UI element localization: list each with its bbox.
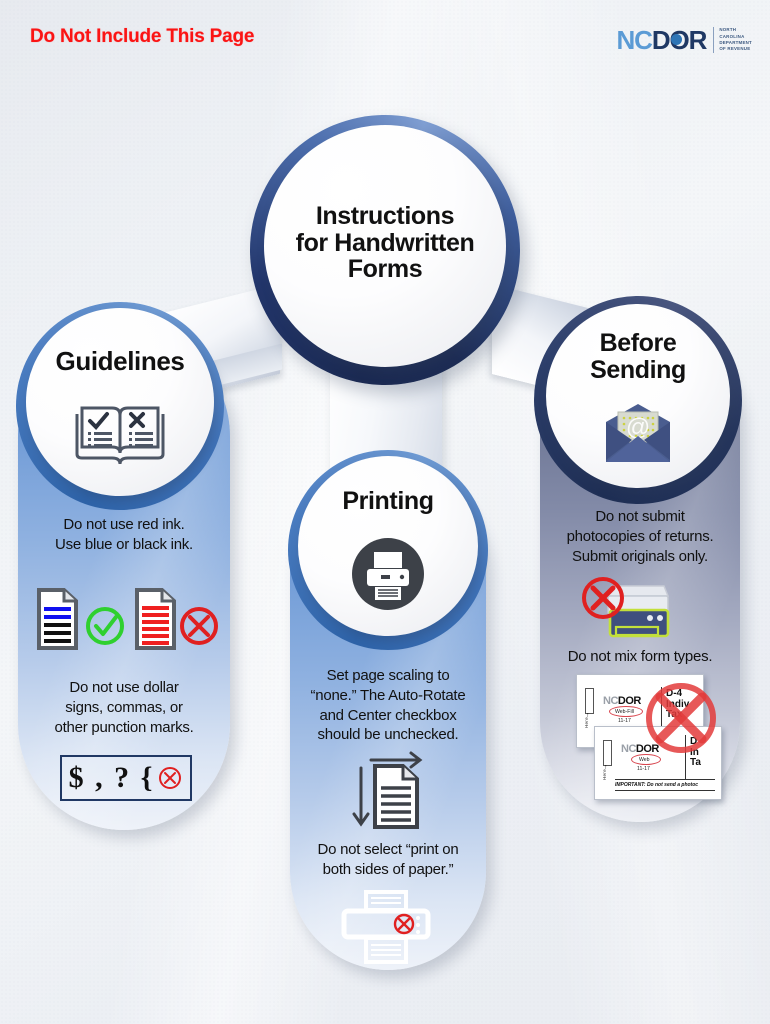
- ncdor-logo: NC DOR NORTH CAROLINA DEPARTMENT OF REVE…: [616, 24, 752, 56]
- guidelines-text-symbols-line-1: Do not use dollar: [18, 678, 230, 698]
- mini-form-code-line-3: Ta: [690, 758, 701, 769]
- document-blue-black-ink-icon: [39, 590, 76, 648]
- logo-divider: [713, 27, 714, 53]
- printing-text-scaling-line-4: should be unchecked.: [290, 725, 486, 745]
- before-sending-text-originals: Do not submit photocopies of returns. Su…: [540, 507, 740, 566]
- mini-form-hrule-2: [615, 790, 715, 791]
- logo-nc-text: NC: [616, 27, 651, 53]
- printer-circle-icon: [350, 536, 426, 612]
- mini-form-date: 11-17: [618, 718, 631, 724]
- page-title-line-2: for Handwritten: [250, 230, 520, 257]
- guidelines-circle: Guidelines: [16, 302, 224, 510]
- check-circle-icon: [88, 609, 122, 643]
- open-book-check-x-icon: [74, 394, 166, 466]
- printing-circle: Printing: [288, 450, 488, 650]
- before-sending-title-line-1: Before: [534, 330, 742, 357]
- ncdor-wordmark: NC DOR: [616, 27, 706, 53]
- printing-text-scaling: Set page scaling to “none.” The Auto-Rot…: [290, 666, 486, 745]
- mini-form-date: 11-17: [637, 766, 650, 772]
- logo-subtitle: NORTH CAROLINA DEPARTMENT OF REVENUE: [719, 27, 752, 53]
- do-not-include-warning: Do Not Include This Page: [30, 26, 254, 48]
- page-header: Do Not Include This Page NC DOR NORTH CA…: [0, 0, 770, 72]
- mini-form-brand-nc: NC: [621, 743, 636, 755]
- guidelines-ink-examples: [33, 586, 218, 652]
- mini-form-important-note: IMPORTANT: Do not send a photoc: [615, 782, 698, 788]
- logo-dor-text: DOR: [652, 27, 706, 53]
- panel-before-sending[interactable]: Before Sending @: [540, 322, 740, 822]
- printer-duplex-disabled-icon: [338, 890, 442, 964]
- logo-o-dot-icon: [671, 34, 682, 45]
- center-instructions-circle[interactable]: Instructions for Handwritten Forms: [250, 115, 520, 385]
- before-sending-text-mix: Do not mix form types.: [540, 647, 740, 667]
- guidelines-text-ink-line-1: Do not use red ink.: [18, 515, 230, 535]
- before-sending-title-line-2: Sending: [534, 357, 742, 384]
- printing-text-scaling-line-1: Set page scaling to: [290, 666, 486, 686]
- guidelines-text-symbols-line-3: other punction marks.: [18, 718, 230, 738]
- before-sending-text-originals-line-1: Do not submit: [540, 507, 740, 527]
- printing-title: Printing: [288, 488, 488, 515]
- mini-form-hrule: [615, 779, 715, 780]
- panel-printing[interactable]: Printing Set page scaling to “none.” The…: [290, 470, 486, 970]
- before-sending-text-originals-line-3: Submit originals only.: [540, 547, 740, 567]
- page-title: Instructions for Handwritten Forms: [250, 203, 520, 283]
- printing-text-scaling-line-2: “none.” The Auto-Rotate: [290, 686, 486, 706]
- mini-form-tab: [585, 688, 594, 714]
- logo-sub-line-4: OF REVENUE: [719, 46, 752, 52]
- panel-guidelines[interactable]: Guidelines: [18, 330, 230, 830]
- document-red-ink-icon: [137, 590, 174, 648]
- guidelines-symbols-box: $ , ? {: [60, 755, 192, 801]
- guidelines-symbols-text: $ , ? {: [69, 763, 155, 793]
- guidelines-text-symbols-line-2: signs, commas, or: [18, 698, 230, 718]
- before-sending-text-originals-line-2: photocopies of returns.: [540, 527, 740, 547]
- mini-form-variant-highlight: [609, 706, 643, 717]
- before-sending-circle: Before Sending @: [534, 296, 742, 504]
- document-no-rotate-icon: [345, 748, 435, 832]
- x-circle-icon: [157, 765, 183, 791]
- copier-no-photocopy-icon: [570, 570, 680, 642]
- mini-form-arrow-icon: ↑: [604, 764, 608, 771]
- mini-form-arrow-icon: ↑: [586, 712, 590, 719]
- before-sending-title: Before Sending: [534, 330, 742, 383]
- printing-text-scaling-line-3: and Center checkbox: [290, 706, 486, 726]
- guidelines-text-ink: Do not use red ink. Use blue or black in…: [18, 515, 230, 555]
- before-sending-form-samples: Here ↑ NCDOR Web-Fill 11-17 D-4 Indiv Ta…: [550, 674, 735, 814]
- printing-text-duplex-line-1: Do not select “print on: [290, 840, 486, 860]
- x-circle-icon: [645, 682, 717, 754]
- mini-form-variant-highlight: [631, 754, 661, 765]
- guidelines-text-ink-line-2: Use blue or black ink.: [18, 535, 230, 555]
- page-title-line-1: Instructions: [250, 203, 520, 230]
- envelope-at-icon: @: [600, 402, 676, 466]
- mini-form-brand-nc: NC: [603, 695, 618, 707]
- x-circle-icon: [182, 609, 216, 643]
- guidelines-title: Guidelines: [16, 348, 224, 376]
- printing-text-duplex: Do not select “print on both sides of pa…: [290, 840, 486, 880]
- page-title-line-3: Forms: [250, 256, 520, 283]
- printing-text-duplex-line-2: both sides of paper.”: [290, 860, 486, 880]
- mini-form-tab: [603, 740, 612, 766]
- guidelines-text-symbols: Do not use dollar signs, commas, or othe…: [18, 678, 230, 737]
